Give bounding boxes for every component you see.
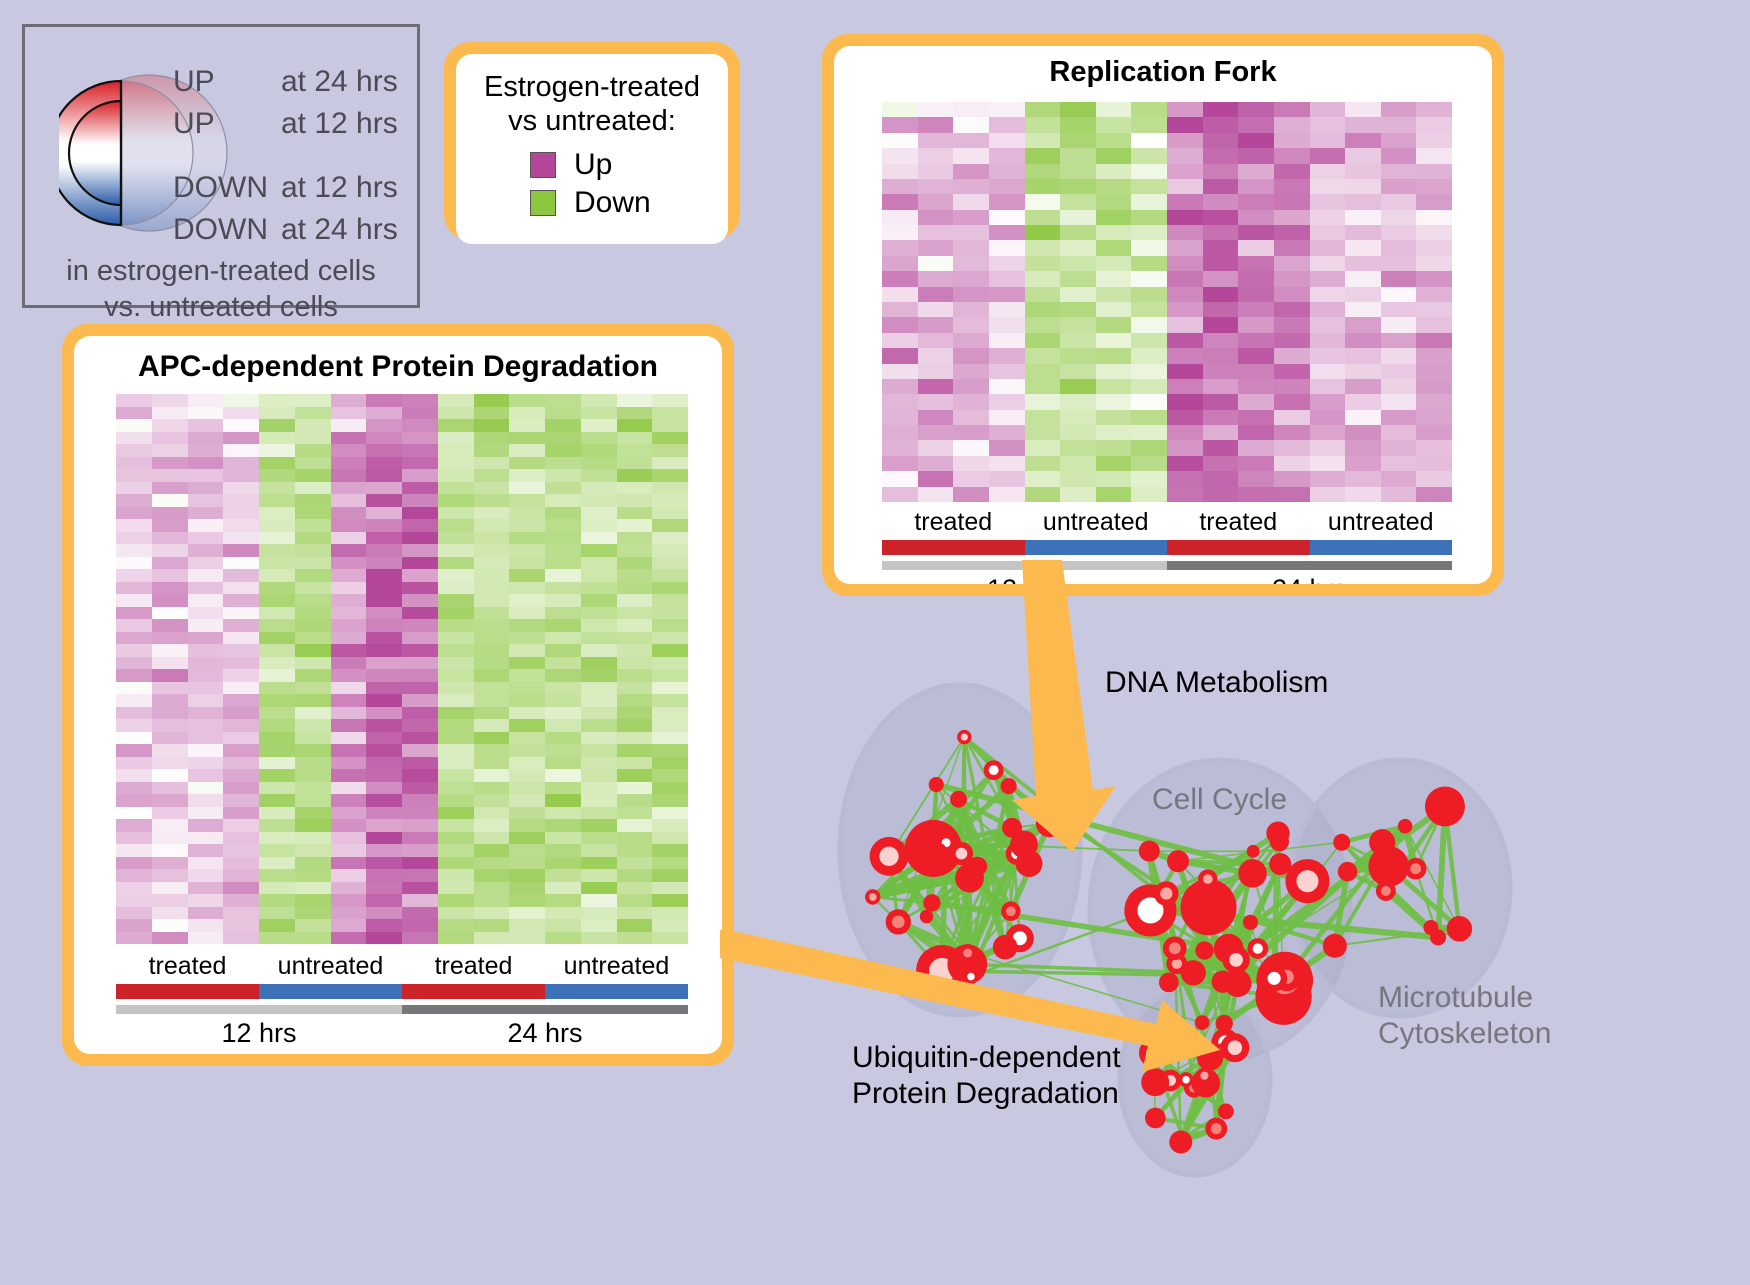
heatmap-cell: [509, 407, 545, 420]
heatmap-cell: [295, 544, 331, 557]
heatmap-cell: [989, 102, 1025, 117]
heatmap-cell: [545, 907, 581, 920]
heatmap-cell: [545, 707, 581, 720]
heatmap-cell: [152, 644, 188, 657]
timepoint-bar-segment: [402, 1005, 688, 1014]
heatmap-cell: [545, 682, 581, 695]
heatmap-cell: [116, 732, 152, 745]
heatmap-cell: [617, 682, 653, 695]
heatmap-cell: [1274, 410, 1310, 425]
network-node-core: [1006, 906, 1016, 916]
heatmap-cell: [617, 482, 653, 495]
heatmap-cell: [1131, 133, 1167, 148]
heatmap-cell: [116, 919, 152, 932]
heatmap-cell: [152, 882, 188, 895]
heatmap-cell: [295, 707, 331, 720]
heatmap-cell: [331, 744, 367, 757]
heatmap-cell: [581, 919, 617, 932]
heatmap-cell: [1131, 302, 1167, 317]
heatmap-cell: [509, 482, 545, 495]
heatmap-cell: [1238, 117, 1274, 132]
heatmap-cell: [1025, 440, 1061, 455]
heatmap-cell: [1060, 333, 1096, 348]
heatmap-cell: [509, 507, 545, 520]
heatmap-cell: [617, 794, 653, 807]
heatmap-cell: [1310, 240, 1346, 255]
heatmap-cell: [1203, 364, 1239, 379]
heatmap-cell: [953, 164, 989, 179]
heatmap-cell: [116, 407, 152, 420]
timepoint-bar-segment: [1167, 561, 1452, 570]
heatmap-cell: [882, 225, 918, 240]
heatmap-cell: [581, 807, 617, 820]
color-key-row: UP at 24 hrs: [173, 61, 413, 103]
network-node-core: [1410, 863, 1421, 874]
heatmap-cell: [1096, 271, 1132, 286]
heatmap-cell: [402, 882, 438, 895]
heatmap-cell: [1167, 133, 1203, 148]
heatmap-cell: [1416, 456, 1452, 471]
legend-item-down: Down: [530, 184, 728, 222]
heatmap-cell: [402, 619, 438, 632]
heatmap-cell: [152, 857, 188, 870]
heatmap-cell: [223, 694, 259, 707]
heatmap-cell: [1167, 179, 1203, 194]
heatmap-cell: [1096, 394, 1132, 409]
heatmap-cell: [1238, 394, 1274, 409]
heatmap-cell: [1203, 240, 1239, 255]
heatmap-cell: [545, 807, 581, 820]
heatmap-cell: [509, 894, 545, 907]
heatmap-cell: [581, 819, 617, 832]
heatmap-cell: [1131, 117, 1167, 132]
heatmap-cell: [617, 569, 653, 582]
heatmap-cell: [438, 719, 474, 732]
heatmap-cell: [188, 682, 224, 695]
heatmap-cell: [581, 457, 617, 470]
heatmap-cell: [1060, 102, 1096, 117]
heatmap-cell: [1025, 271, 1061, 286]
heatmap-cell: [509, 782, 545, 795]
heatmap-cell: [509, 807, 545, 820]
heatmap-cell: [1096, 179, 1132, 194]
heatmap-cell: [188, 407, 224, 420]
heatmap-cell: [1203, 302, 1239, 317]
heatmap-cell: [223, 832, 259, 845]
heatmap-cell: [152, 519, 188, 532]
heatmap-cell: [474, 669, 510, 682]
heatmap-cell: [331, 844, 367, 857]
network-node: [1369, 829, 1395, 855]
heatmap-cell: [1238, 225, 1274, 240]
heatmap-cell: [152, 557, 188, 570]
heatmap-cell: [402, 794, 438, 807]
heatmap-cell: [438, 744, 474, 757]
heatmap-cell: [652, 482, 688, 495]
heatmap-cell: [402, 907, 438, 920]
color-key-when: at 24 hrs: [281, 61, 398, 103]
heatmap-cell: [1310, 271, 1346, 286]
heatmap-cell: [1238, 133, 1274, 148]
heatmap-cell: [116, 582, 152, 595]
heatmap-cell: [1416, 410, 1452, 425]
heatmap-cell: [402, 457, 438, 470]
network-node-core: [1381, 886, 1391, 896]
heatmap-cell: [1096, 333, 1132, 348]
heatmap-cell: [989, 256, 1025, 271]
heatmap-cell: [1345, 425, 1381, 440]
legend-title-line2: vs untreated:: [466, 104, 718, 138]
heatmap-cell: [581, 682, 617, 695]
heatmap-cell: [1025, 348, 1061, 363]
heatmap-cell: [1131, 440, 1167, 455]
group-label: treated: [116, 952, 259, 982]
heatmap-cell: [1381, 456, 1417, 471]
heatmap-cell: [882, 164, 918, 179]
heatmap-cell: [617, 582, 653, 595]
heatmap-cell: [402, 544, 438, 557]
heatmap-cell: [188, 657, 224, 670]
heatmap-cell: [438, 644, 474, 657]
heatmap-cell: [882, 133, 918, 148]
heatmap-cell: [1203, 164, 1239, 179]
heatmap-cell: [652, 682, 688, 695]
heatmap-cell: [545, 732, 581, 745]
network-node: [1430, 929, 1446, 945]
treatment-bar-segment: [545, 984, 688, 999]
heatmap-cell: [1167, 410, 1203, 425]
heatmap-cell: [402, 832, 438, 845]
heatmap-cell: [188, 394, 224, 407]
heatmap-cell: [545, 744, 581, 757]
heatmap-cell: [652, 607, 688, 620]
heatmap-cell: [652, 857, 688, 870]
heatmap-cell: [1381, 117, 1417, 132]
heatmap-cell: [402, 932, 438, 945]
heatmap-cell: [1345, 333, 1381, 348]
heatmap-cell: [152, 907, 188, 920]
heatmap-cell: [116, 494, 152, 507]
heatmap-cell: [259, 444, 295, 457]
heatmap-cell: [152, 657, 188, 670]
heatmap-cell: [1416, 317, 1452, 332]
heatmap-cell: [1238, 487, 1274, 502]
timepoint-label: 24 hrs: [402, 1018, 688, 1052]
heatmap-cell: [366, 894, 402, 907]
heatmap-cell: [989, 164, 1025, 179]
heatmap-cell: [259, 607, 295, 620]
heatmap-cell: [152, 457, 188, 470]
heatmap-cell: [1310, 425, 1346, 440]
heatmap-cell: [953, 102, 989, 117]
heatmap-cell: [1025, 102, 1061, 117]
legend-swatch-down-icon: [530, 190, 556, 216]
heatmap-cell: [223, 669, 259, 682]
heatmap-cell: [474, 844, 510, 857]
heatmap-cell: [509, 557, 545, 570]
heatmap-cell: [1131, 164, 1167, 179]
heatmap-cell: [116, 469, 152, 482]
heatmap-cell: [545, 469, 581, 482]
heatmap-cell: [152, 769, 188, 782]
heatmap-cell: [259, 769, 295, 782]
heatmap-cell: [331, 494, 367, 507]
heatmap-cell: [652, 707, 688, 720]
heatmap-cell: [581, 644, 617, 657]
heatmap-cell: [1310, 410, 1346, 425]
heatmap-cell: [116, 832, 152, 845]
heatmap-cell: [259, 732, 295, 745]
heatmap-cell: [1025, 148, 1061, 163]
heatmap-cell: [617, 619, 653, 632]
heatmap-cell: [953, 348, 989, 363]
heatmap-cell: [331, 819, 367, 832]
callout-arrow-ubiquitin: [720, 930, 1260, 1090]
heatmap-cell: [295, 857, 331, 870]
heatmap-cell: [438, 494, 474, 507]
heatmap-cell: [259, 932, 295, 945]
heatmap-cell: [581, 782, 617, 795]
heatmap-cell: [1203, 225, 1239, 240]
heatmap-cell: [116, 907, 152, 920]
heatmap-cell: [223, 419, 259, 432]
heatmap-cell: [331, 782, 367, 795]
heatmap-cell: [1274, 379, 1310, 394]
heatmap-cell: [581, 532, 617, 545]
heatmap-cell: [509, 657, 545, 670]
heatmap-cell: [1167, 348, 1203, 363]
heatmap-cell: [1203, 102, 1239, 117]
heatmap-cell: [989, 117, 1025, 132]
heatmap-cell: [438, 619, 474, 632]
heatmap-cell: [1131, 256, 1167, 271]
heatmap-cell: [366, 494, 402, 507]
heatmap-cell: [331, 769, 367, 782]
heatmap-cell: [366, 594, 402, 607]
heatmap-cell: [989, 302, 1025, 317]
heatmap-cell: [116, 794, 152, 807]
heatmap-cell: [366, 782, 402, 795]
heatmap-cell: [1381, 364, 1417, 379]
heatmap-cell: [366, 919, 402, 932]
heatmap-cell: [1060, 256, 1096, 271]
heatmap-cell: [581, 894, 617, 907]
heatmap-cell: [1274, 364, 1310, 379]
heatmap-cell: [188, 707, 224, 720]
heatmap-cell: [223, 394, 259, 407]
heatmap-cell: [116, 507, 152, 520]
heatmap-cell: [918, 225, 954, 240]
heatmap-cell: [617, 732, 653, 745]
legend-swatch-up-icon: [530, 152, 556, 178]
heatmap-cell: [509, 907, 545, 920]
color-key-tag: DOWN: [173, 167, 281, 209]
heatmap-cell: [1381, 210, 1417, 225]
heatmap-cell: [152, 569, 188, 582]
heatmap-cell: [1025, 117, 1061, 132]
heatmap-cell: [882, 317, 918, 332]
heatmap-cell: [652, 844, 688, 857]
heatmap-cell: [1025, 333, 1061, 348]
heatmap-cell: [1096, 225, 1132, 240]
heatmap-cell: [331, 869, 367, 882]
heatmap-cell: [1167, 333, 1203, 348]
heatmap-cell: [545, 544, 581, 557]
heatmap-cell: [509, 882, 545, 895]
heatmap-cell: [402, 857, 438, 870]
heatmap-cell: [474, 732, 510, 745]
heatmap-cell: [1096, 256, 1132, 271]
heatmap-cell: [474, 544, 510, 557]
heatmap-cell: [1345, 148, 1381, 163]
network-node: [1266, 822, 1289, 845]
heatmap-cell: [1274, 440, 1310, 455]
heatmap-cell: [617, 832, 653, 845]
heatmap-cell: [1345, 271, 1381, 286]
treatment-bar-segment: [1310, 540, 1453, 555]
heatmap-cell: [989, 133, 1025, 148]
network-node: [1243, 915, 1258, 930]
heatmap-cell: [331, 432, 367, 445]
heatmap-cell: [1025, 394, 1061, 409]
heatmap-cell: [438, 507, 474, 520]
heatmap-cell: [1025, 194, 1061, 209]
heatmap-cell: [1310, 287, 1346, 302]
heatmap-cell: [1167, 210, 1203, 225]
heatmap-cell: [295, 619, 331, 632]
heatmap-cell: [1131, 148, 1167, 163]
updown-legend-panel: Estrogen-treated vs untreated: Up Down: [444, 42, 740, 240]
heatmap-cell: [617, 544, 653, 557]
heatmap-cell: [402, 569, 438, 582]
heatmap-cell: [918, 425, 954, 440]
heatmap-cell: [953, 133, 989, 148]
heatmap-cell: [259, 882, 295, 895]
heatmap-cell: [259, 582, 295, 595]
heatmap-cell: [223, 632, 259, 645]
heatmap-cell: [1310, 117, 1346, 132]
heatmap-cell: [1131, 333, 1167, 348]
heatmap-cell: [1096, 317, 1132, 332]
network-node: [1447, 916, 1473, 942]
heatmap-cell: [366, 682, 402, 695]
heatmap-cell: [617, 507, 653, 520]
heatmap-cell: [918, 133, 954, 148]
heatmap-cell: [581, 832, 617, 845]
heatmap-cell: [581, 557, 617, 570]
heatmap-cell: [1167, 102, 1203, 117]
heatmap-cell: [366, 869, 402, 882]
heatmap-cell: [116, 757, 152, 770]
heatmap-cell: [152, 582, 188, 595]
heatmap-cell: [509, 932, 545, 945]
legend-title: Estrogen-treated vs untreated:: [456, 70, 728, 138]
heatmap-cell: [331, 619, 367, 632]
heatmap-cell: [1203, 394, 1239, 409]
heatmap-cell: [223, 532, 259, 545]
heatmap-cell: [617, 632, 653, 645]
heatmap-cell: [366, 694, 402, 707]
heatmap-cell: [1060, 394, 1096, 409]
heatmap-cell: [918, 179, 954, 194]
heatmap-cell: [223, 469, 259, 482]
heatmap-cell: [545, 394, 581, 407]
heatmap-cell: [152, 482, 188, 495]
heatmap-cell: [223, 444, 259, 457]
heatmap-cell: [331, 682, 367, 695]
heatmap-cell: [509, 419, 545, 432]
heatmap-cell: [295, 519, 331, 532]
color-key-row: UP at 12 hrs: [173, 103, 413, 145]
heatmap-cell: [474, 707, 510, 720]
heatmap-cell: [1310, 179, 1346, 194]
heatmap-cell: [152, 444, 188, 457]
heatmap-cell: [1060, 148, 1096, 163]
heatmap-cell: [652, 532, 688, 545]
heatmap-cell: [617, 469, 653, 482]
heatmap-cell: [1167, 364, 1203, 379]
heatmap-cell: [188, 919, 224, 932]
heatmap-cell: [545, 932, 581, 945]
heatmap-cell: [295, 894, 331, 907]
heatmap-cell: [918, 102, 954, 117]
treatment-bar-segment: [259, 984, 402, 999]
heatmap-cell: [509, 619, 545, 632]
heatmap-cell: [581, 857, 617, 870]
legend-title-line1: Estrogen-treated: [466, 70, 718, 104]
heatmap-cell: [882, 410, 918, 425]
heatmap-cell: [223, 732, 259, 745]
heatmap-cell: [1096, 364, 1132, 379]
heatmap-cell: [1025, 225, 1061, 240]
heatmap-cell: [581, 844, 617, 857]
heatmap-cell: [366, 882, 402, 895]
heatmap-cell: [295, 694, 331, 707]
heatmap-cell: [882, 333, 918, 348]
heatmap-cell: [1381, 394, 1417, 409]
heatmap-cell: [438, 907, 474, 920]
heatmap-cell: [545, 794, 581, 807]
heatmap-cell: [545, 694, 581, 707]
heatmap-cell: [509, 794, 545, 807]
heatmap-cell: [1096, 410, 1132, 425]
timepoint-label: 24 hrs: [1167, 574, 1452, 584]
heatmap-cell: [509, 519, 545, 532]
heatmap-cell: [989, 456, 1025, 471]
heatmap-cell: [152, 732, 188, 745]
heatmap-cell: [295, 732, 331, 745]
heatmap-cell: [1381, 194, 1417, 209]
heatmap-cell: [545, 782, 581, 795]
heatmap-cell: [474, 569, 510, 582]
network-node-core: [869, 893, 877, 901]
heatmap-cell: [402, 507, 438, 520]
heatmap-cell: [116, 632, 152, 645]
heatmap-cell: [1203, 148, 1239, 163]
heatmap-cell: [1238, 302, 1274, 317]
heatmap-cell: [223, 544, 259, 557]
heatmap-cell: [366, 632, 402, 645]
heatmap-cell: [295, 394, 331, 407]
heatmap-cell: [438, 782, 474, 795]
heatmap-cell: [223, 507, 259, 520]
heatmap-cell: [188, 844, 224, 857]
heatmap-cell: [509, 494, 545, 507]
heatmap-cell: [366, 457, 402, 470]
heatmap-cell: [581, 394, 617, 407]
heatmap-cell: [1238, 256, 1274, 271]
heatmap-cell: [1131, 317, 1167, 332]
